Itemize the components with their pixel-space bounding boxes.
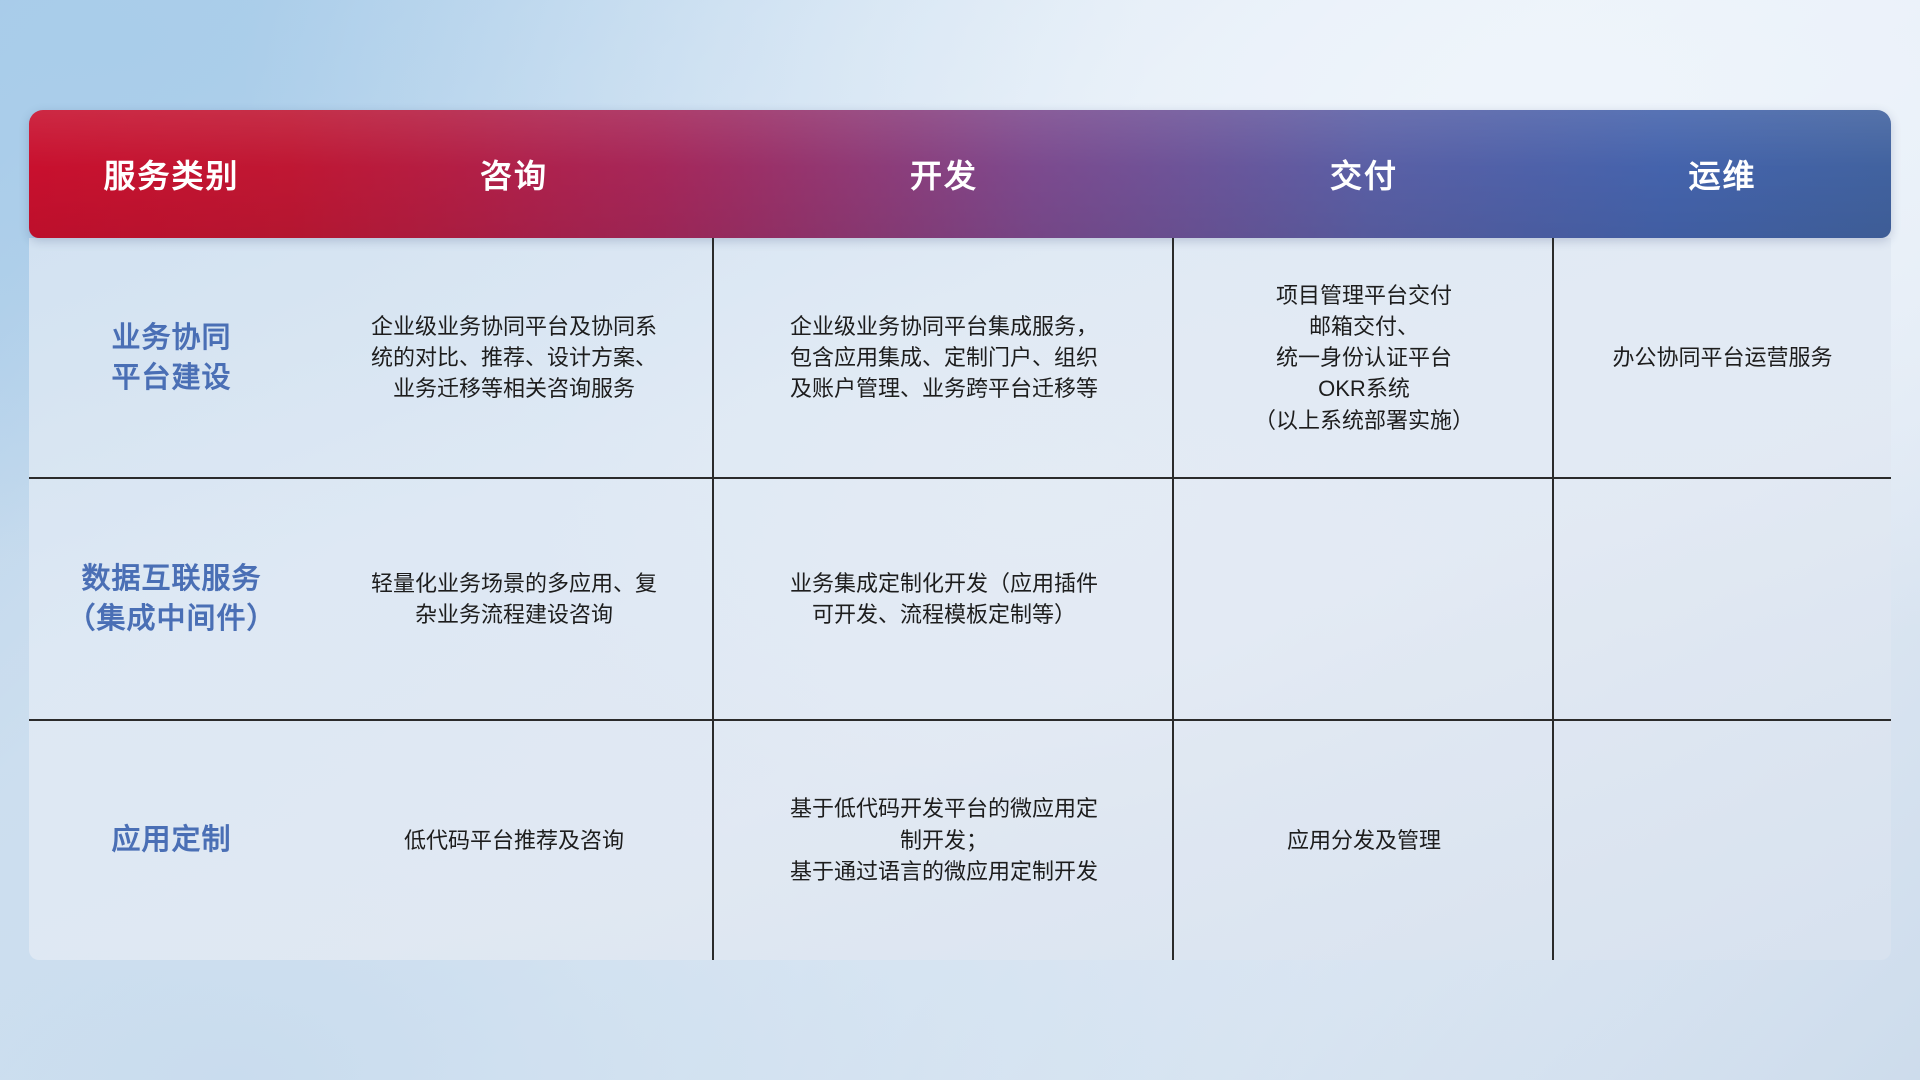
column-header-delivery: 交付	[1174, 110, 1554, 238]
cell-delivery-application-customization: 应用分发及管理	[1174, 721, 1554, 960]
cell-development-data-interconnection: 业务集成定制化开发（应用插件 可开发、流程模板定制等）	[714, 479, 1174, 718]
table-header-row: 服务类别 咨询 开发 交付 运维	[29, 110, 1891, 238]
cell-operations-data-interconnection	[1554, 479, 1891, 718]
column-header-operations: 运维	[1554, 110, 1891, 238]
column-header-development: 开发	[714, 110, 1174, 238]
table-row: 数据互联服务 （集成中间件） 轻量化业务场景的多应用、复 杂业务流程建设咨询 业…	[29, 477, 1891, 718]
table-row: 业务协同 平台建设 企业级业务协同平台及协同系 统的对比、推荐、设计方案、 业务…	[29, 238, 1891, 477]
table-row: 应用定制 低代码平台推荐及咨询 基于低代码开发平台的微应用定 制开发； 基于通过…	[29, 719, 1891, 960]
cell-operations-business-collaboration: 办公协同平台运营服务	[1554, 238, 1891, 477]
cell-consulting-data-interconnection: 轻量化业务场景的多应用、复 杂业务流程建设咨询	[314, 479, 714, 718]
cell-development-application-customization: 基于低代码开发平台的微应用定 制开发； 基于通过语言的微应用定制开发	[714, 721, 1174, 960]
cell-consulting-application-customization: 低代码平台推荐及咨询	[314, 721, 714, 960]
cell-consulting-business-collaboration: 企业级业务协同平台及协同系 统的对比、推荐、设计方案、 业务迁移等相关咨询服务	[314, 238, 714, 477]
cell-delivery-business-collaboration: 项目管理平台交付 邮箱交付、 统一身份认证平台 OKR系统 （以上系统部署实施）	[1174, 238, 1554, 477]
service-matrix-table: 服务类别 咨询 开发 交付 运维 业务协同 平台建设 企业级业务协同平台及协同系…	[29, 110, 1891, 960]
cell-development-business-collaboration: 企业级业务协同平台集成服务， 包含应用集成、定制门户、组织 及账户管理、业务跨平…	[714, 238, 1174, 477]
row-label-business-collaboration: 业务协同 平台建设	[29, 238, 314, 477]
row-label-application-customization: 应用定制	[29, 721, 314, 960]
cell-delivery-data-interconnection	[1174, 479, 1554, 718]
column-header-category: 服务类别	[29, 110, 314, 238]
cell-operations-application-customization	[1554, 721, 1891, 960]
table-body: 业务协同 平台建设 企业级业务协同平台及协同系 统的对比、推荐、设计方案、 业务…	[29, 238, 1891, 960]
row-label-data-interconnection: 数据互联服务 （集成中间件）	[29, 479, 314, 718]
column-header-consulting: 咨询	[314, 110, 714, 238]
